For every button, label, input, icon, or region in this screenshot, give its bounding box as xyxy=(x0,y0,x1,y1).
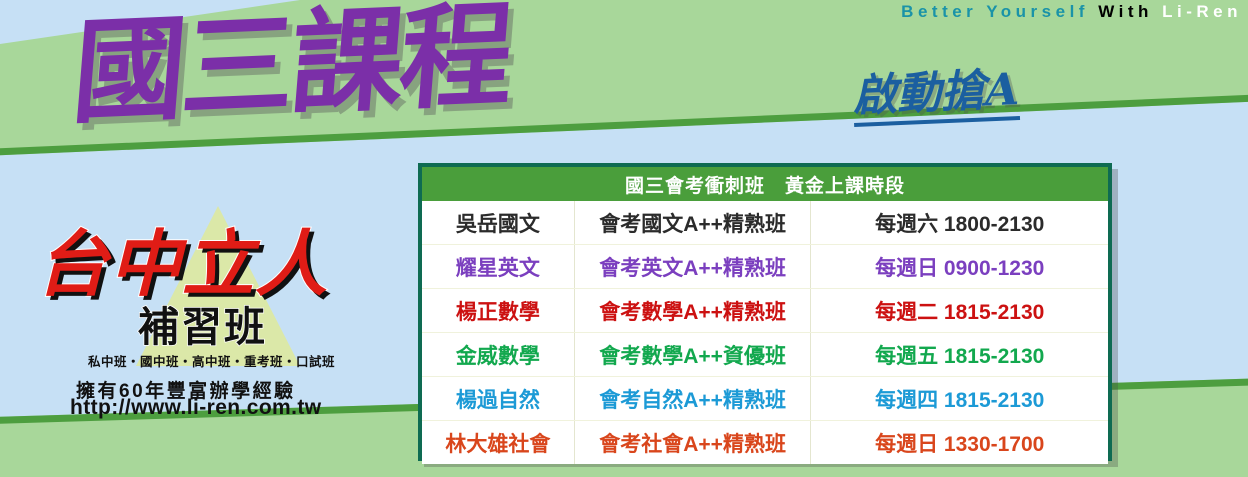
table-row[interactable]: 吳岳國文會考國文A++精熟班每週六 1800-2130 xyxy=(422,201,1108,245)
cell-teacher: 耀星英文 xyxy=(422,245,574,289)
schedule-header-title: 國三會考衝刺班 黃金上課時段 xyxy=(422,167,1108,201)
schedule-table-container: 國三會考衝刺班 黃金上課時段 吳岳國文會考國文A++精熟班每週六 1800-21… xyxy=(418,163,1112,461)
schedule-table: 國三會考衝刺班 黃金上課時段 吳岳國文會考國文A++精熟班每週六 1800-21… xyxy=(422,167,1108,464)
schedule-body: 吳岳國文會考國文A++精熟班每週六 1800-2130耀星英文會考英文A++精熟… xyxy=(422,201,1108,464)
cell-course: 會考自然A++精熟班 xyxy=(574,377,811,421)
page-title: 國三課程 xyxy=(69,0,514,129)
tagline-part-3: Li-Ren xyxy=(1162,2,1242,21)
cell-course: 會考英文A++精熟班 xyxy=(574,245,811,289)
cell-teacher: 吳岳國文 xyxy=(422,201,574,245)
tagline-part-2: With xyxy=(1098,2,1153,21)
cell-course: 會考社會A++精熟班 xyxy=(574,421,811,465)
cell-course: 會考數學A++資優班 xyxy=(574,333,811,377)
cell-time: 每週五 1815-2130 xyxy=(811,333,1108,377)
cell-teacher: 金威數學 xyxy=(422,333,574,377)
table-row[interactable]: 林大雄社會會考社會A++精熟班每週日 1330-1700 xyxy=(422,421,1108,465)
logo-school-name: 台中立人 xyxy=(36,228,376,300)
table-row[interactable]: 楊正數學會考數學A++精熟班每週二 1815-2130 xyxy=(422,289,1108,333)
cell-teacher: 楊過自然 xyxy=(422,377,574,421)
cell-time: 每週日 1330-1700 xyxy=(811,421,1108,465)
page-subtitle: 啟動搶A xyxy=(852,67,1020,127)
cell-time: 每週六 1800-2130 xyxy=(811,201,1108,245)
cell-teacher: 楊正數學 xyxy=(422,289,574,333)
cell-course: 會考國文A++精熟班 xyxy=(574,201,811,245)
logo-program-tags: 私中班・國中班・高中班・重考班・口試班 xyxy=(88,351,335,370)
cell-course: 會考數學A++精熟班 xyxy=(574,289,811,333)
logo-school-type: 補習班 xyxy=(138,307,267,348)
table-row[interactable]: 楊過自然會考自然A++精熟班每週四 1815-2130 xyxy=(422,377,1108,421)
cell-time: 每週二 1815-2130 xyxy=(811,289,1108,333)
table-row[interactable]: 金威數學會考數學A++資優班每週五 1815-2130 xyxy=(422,333,1108,377)
tagline-part-1: Better Yourself xyxy=(901,2,1089,21)
cell-time: 每週四 1815-2130 xyxy=(811,377,1108,421)
website-url[interactable]: http://www.li-ren.com.tw xyxy=(70,396,321,420)
table-row[interactable]: 耀星英文會考英文A++精熟班每週日 0900-1230 xyxy=(422,245,1108,289)
poster-canvas: Better Yourself With Li-Ren 國三課程 啟動搶A 台中… xyxy=(0,0,1248,477)
brand-tagline: Better Yourself With Li-Ren xyxy=(901,2,1242,22)
cell-teacher: 林大雄社會 xyxy=(422,421,574,465)
cell-time: 每週日 0900-1230 xyxy=(811,245,1108,289)
schedule-header-row: 國三會考衝刺班 黃金上課時段 xyxy=(422,167,1108,201)
